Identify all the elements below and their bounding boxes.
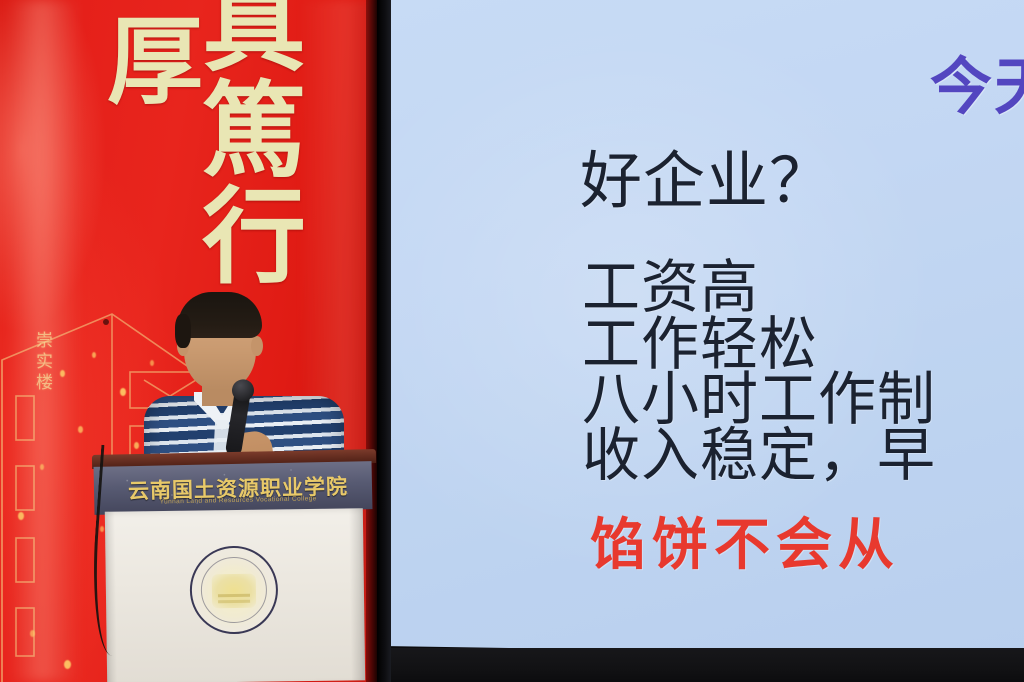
banner-calligraphy-right: 真篤行: [196, 0, 312, 292]
slide-title: 今天: [930, 36, 1024, 126]
screen-bottom-border: [391, 648, 1024, 682]
lectern-podium: 云南国土资源职业学院 Yunnan Land and Resources Voc…: [92, 452, 376, 682]
speaker-ear-right: [251, 336, 263, 356]
podium-right-shadow: [349, 508, 365, 680]
slide-bullet-4: 收入稳定，早: [582, 408, 936, 492]
presentation-photo: 崇实楼 真篤行 厚 今天: [0, 0, 1024, 682]
slide-question: 好企业？: [580, 130, 832, 220]
speaker-hair: [178, 292, 262, 338]
screen-left-border: [377, 0, 391, 682]
slide-highlight-text: 馅饼不会从: [590, 500, 900, 581]
projection-screen-frame: 今天 好企业？ 工资高 工作轻松 八小时工作制 收入稳定，早 馅饼不会从: [377, 0, 1024, 682]
college-seal-icon: [189, 545, 278, 634]
projection-screen: 今天 好企业？ 工资高 工作轻松 八小时工作制 收入稳定，早 馅饼不会从: [390, 0, 1024, 656]
podium-front-panel: [105, 508, 365, 682]
banner-calligraphy-left: 厚: [100, 14, 210, 112]
seal-center-motif: [212, 574, 256, 609]
